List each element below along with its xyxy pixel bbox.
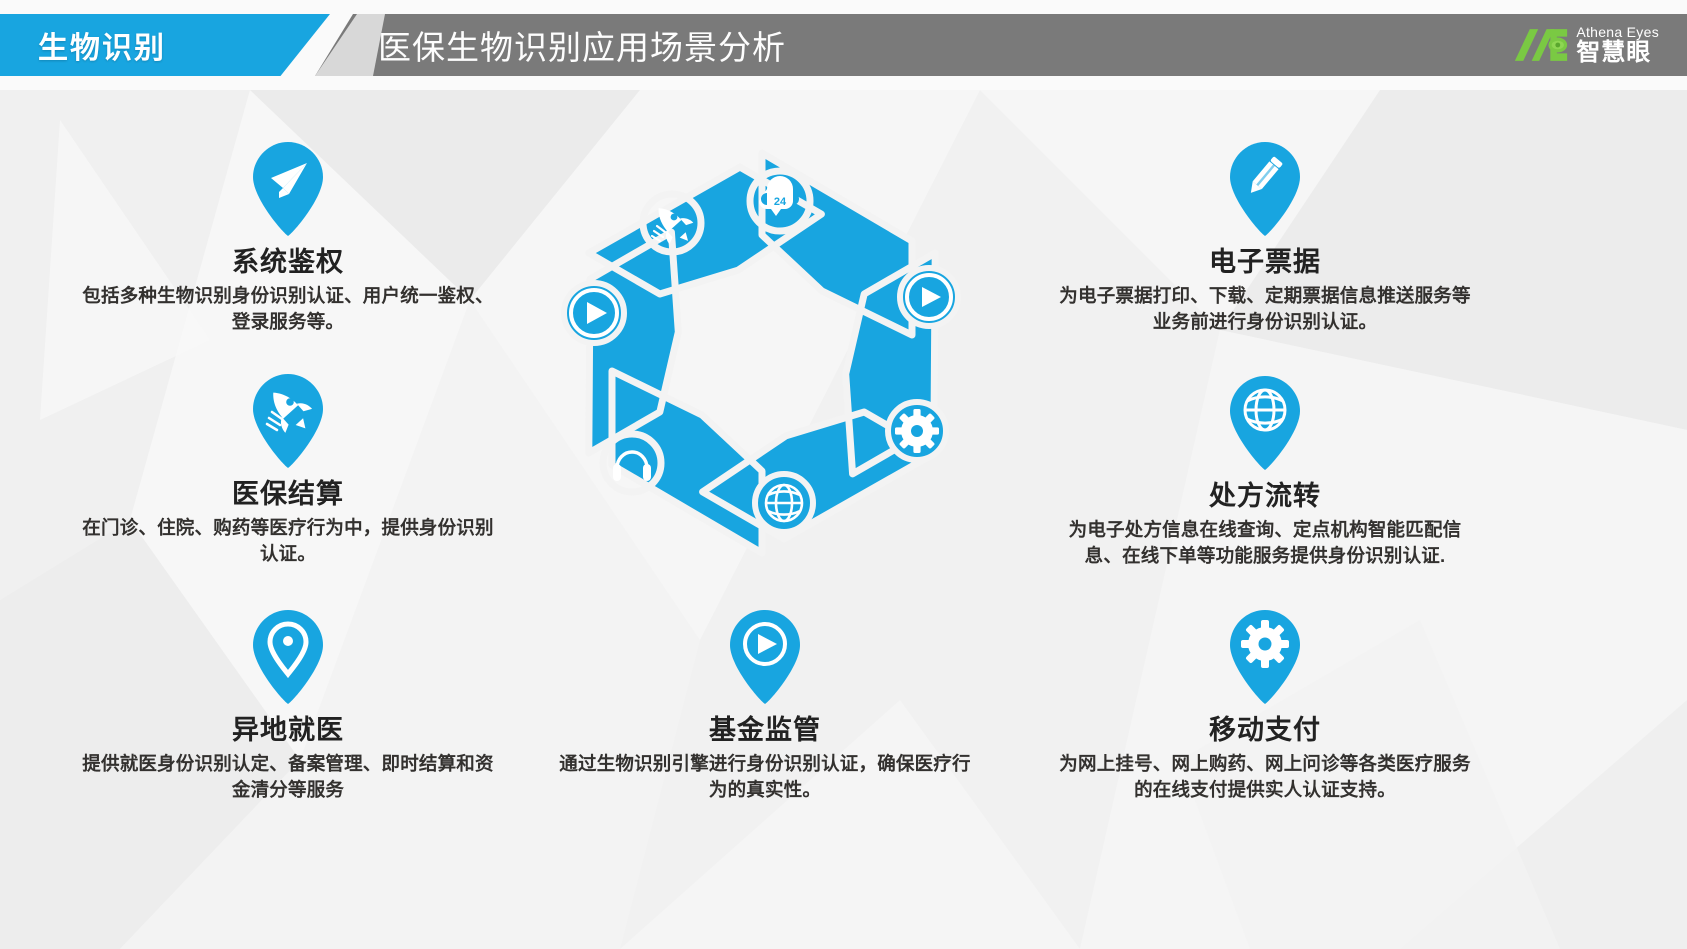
feature-title: 基金监管 [555,708,975,747]
globe-icon [755,474,813,532]
feature-mobile-payment: 移动支付 为网上挂号、网上购药、网上问诊等各类医疗服务的在线支付提供实人认证支持… [1055,608,1475,804]
feature-description: 为电子处方信息在线查询、定点机构智能匹配信息、在线下单等功能服务提供身份识别认证… [1055,517,1475,570]
feature-description: 提供就医身份识别认定、备案管理、即时结算和资金清分等服务 [78,751,498,804]
play-circle-icon [900,268,958,326]
feature-title: 电子票据 [1055,240,1475,279]
feature-prescription-circulation: 处方流转 为电子处方信息在线查询、定点机构智能匹配信息、在线下单等功能服务提供身… [1055,374,1475,570]
feature-title: 系统鉴权 [78,240,498,279]
feature-description: 通过生物识别引擎进行身份识别认证，确保医疗行为的真实性。 [555,751,975,804]
gear-icon [888,402,946,460]
feature-system-auth: 系统鉴权 包括多种生物识别身份识别认证、用户统一鉴权、登录服务等。 [78,140,498,336]
slide-root: 生物识别 医保生物识别应用场景分析 Athena Eyes 智慧眼 [0,0,1687,949]
header-category-tag: 生物识别 [38,14,166,76]
feature-electronic-bill: 电子票据 为电子票据打印、下载、定期票据信息推送服务等业务前进行身份识别认证。 [1055,140,1475,336]
logo-wordmark: Athena Eyes 智慧眼 [1576,25,1659,65]
pencil-icon [1226,140,1304,238]
globe-icon [1226,374,1304,472]
gear-icon [1226,608,1304,706]
feature-fund-supervision: 基金监管 通过生物识别引擎进行身份识别认证，确保医疗行为的真实性。 [555,608,975,804]
slide-header: 生物识别 医保生物识别应用场景分析 Athena Eyes 智慧眼 [0,14,1687,76]
logo-name-en: Athena Eyes [1576,25,1659,39]
play-circle-icon [564,283,624,343]
page-title: 医保生物识别应用场景分析 [378,14,786,76]
map-pin-icon [249,608,327,706]
logo-name-cn: 智慧眼 [1576,41,1659,65]
feature-description: 为电子票据打印、下载、定期票据信息推送服务等业务前进行身份识别认证。 [1055,283,1475,336]
ae-monogram-icon [1513,25,1569,65]
hexagonal-pinwheel-diagram: 24 [527,118,997,588]
paper-plane-icon [249,140,327,238]
feature-insurance-settlement: 医保结算 在门诊、住院、购药等医疗行为中，提供身份识别认证。 [78,372,498,568]
brand-logo: Athena Eyes 智慧眼 [1513,20,1659,70]
feature-title: 异地就医 [78,708,498,747]
feature-description: 在门诊、住院、购药等医疗行为中，提供身份识别认证。 [78,515,498,568]
feature-remote-medical: 异地就医 提供就医身份识别认定、备案管理、即时结算和资金清分等服务 [78,608,498,804]
rocket-icon [249,372,327,470]
feature-title: 医保结算 [78,472,498,511]
feature-description: 为网上挂号、网上购药、网上问诊等各类医疗服务的在线支付提供实人认证支持。 [1055,751,1475,804]
feature-description: 包括多种生物识别身份识别认证、用户统一鉴权、登录服务等。 [78,283,498,336]
play-circle-icon [726,608,804,706]
svg-text:24: 24 [774,196,787,208]
feature-title: 移动支付 [1055,708,1475,747]
feature-title: 处方流转 [1055,474,1475,513]
